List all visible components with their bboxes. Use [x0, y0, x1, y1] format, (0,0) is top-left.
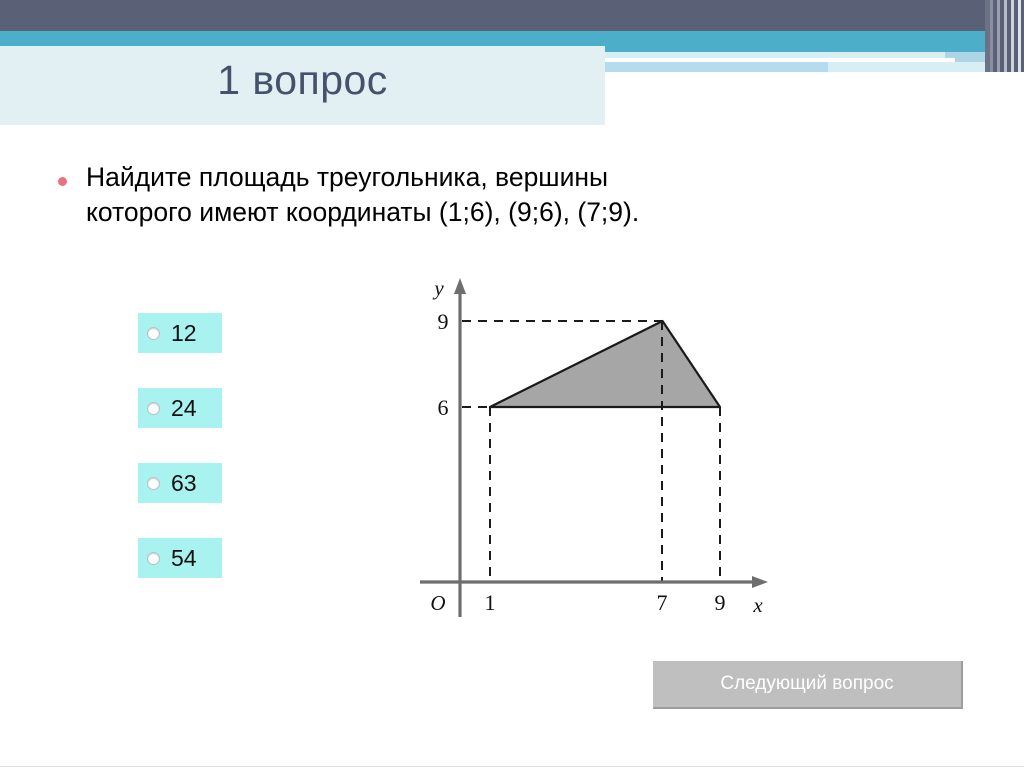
- answer-option-label: 63: [171, 470, 197, 497]
- bullet-icon: [58, 177, 67, 186]
- answer-options-list: 12246354: [138, 313, 222, 613]
- y-tick-6: 6: [438, 395, 449, 420]
- y-tick-9: 9: [438, 309, 449, 334]
- slide-root: 1 вопрос Найдите площадь треугольника, в…: [0, 0, 1024, 767]
- axes: [420, 288, 758, 617]
- answer-option-label: 12: [171, 320, 197, 347]
- y-axis-arrow: [454, 278, 466, 294]
- question-text: Найдите площадь треугольника, вершины ко…: [86, 160, 678, 230]
- radio-button-icon[interactable]: [147, 477, 160, 490]
- y-axis-label: y: [432, 276, 444, 300]
- answer-option-12[interactable]: 12: [138, 313, 222, 353]
- radio-button-icon[interactable]: [147, 327, 160, 340]
- answer-option-24[interactable]: 24: [138, 388, 222, 428]
- coordinate-figure: y x O 9 6 1 7 9: [410, 272, 790, 617]
- origin-label: O: [430, 591, 445, 615]
- x-axis-label: x: [752, 593, 763, 617]
- radio-button-icon[interactable]: [147, 402, 160, 415]
- question-block: Найдите площадь треугольника, вершины ко…: [58, 160, 678, 230]
- answer-option-63[interactable]: 63: [138, 463, 222, 503]
- x-axis-arrow: [752, 576, 768, 588]
- next-question-button[interactable]: Следующий вопрос: [653, 661, 963, 709]
- answer-option-54[interactable]: 54: [138, 538, 222, 578]
- triangle-shape: [490, 321, 720, 407]
- answer-option-label: 24: [171, 395, 197, 422]
- x-tick-7: 7: [657, 590, 668, 615]
- header-teal-band: [0, 31, 1024, 46]
- next-question-label: Следующий вопрос: [720, 673, 893, 695]
- x-tick-1: 1: [485, 590, 496, 615]
- page-title: 1 вопрос: [0, 57, 605, 104]
- header-dark-band: [0, 0, 1024, 31]
- answer-option-label: 54: [171, 545, 197, 572]
- radio-button-icon[interactable]: [147, 552, 160, 565]
- x-tick-9: 9: [715, 590, 726, 615]
